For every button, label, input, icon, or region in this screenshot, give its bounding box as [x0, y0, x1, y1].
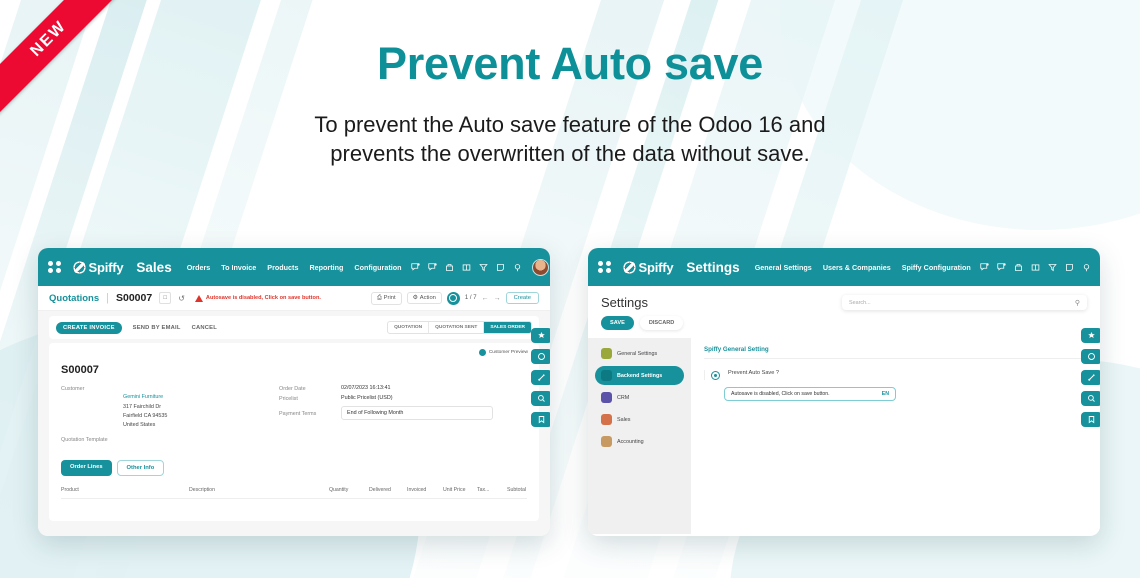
prevent-auto-save-checkbox[interactable]: [711, 371, 720, 380]
menu-item-to-invoice[interactable]: To Invoice: [221, 263, 256, 272]
print-label: Print: [384, 295, 396, 301]
spiffy-logo[interactable]: Spiffy: [623, 260, 674, 275]
help-icon[interactable]: [531, 349, 550, 364]
funnel-icon[interactable]: [1048, 263, 1057, 272]
address-line-2: Fairfield CA 94535: [123, 412, 167, 421]
backend-settings-icon: [601, 370, 612, 381]
stage-sales-order[interactable]: SALES ORDER: [484, 322, 531, 333]
settings-screenshot: Spiffy Settings General Settings Users &…: [588, 248, 1100, 536]
record-status-button[interactable]: [447, 292, 460, 305]
accounting-icon: [601, 436, 612, 447]
sidebar-item-general-settings[interactable]: General Settings: [595, 344, 684, 363]
pager-prev-icon[interactable]: ←: [482, 295, 489, 302]
spiffy-logo[interactable]: Spiffy: [73, 260, 124, 275]
search-placeholder: Search...: [849, 300, 871, 306]
app-name-label[interactable]: Sales: [136, 260, 171, 275]
poster-page: NEW Prevent Auto save To prevent the Aut…: [0, 0, 1140, 578]
quotation-template-label: Quotation Template: [61, 436, 108, 443]
chat-bubble-alt-icon[interactable]: [997, 263, 1006, 272]
breadcrumb-control-bar: Quotations | S00007 □ ↺ Autosave is disa…: [38, 286, 550, 311]
sidebar-item-label: CRM: [617, 395, 629, 401]
col-quantity: Quantity: [329, 487, 369, 493]
chat-bubble-icon[interactable]: [411, 263, 420, 272]
navbar-systray: [411, 259, 549, 276]
pin-icon[interactable]: [513, 263, 522, 272]
section-title: Spiffy General Setting: [704, 346, 1087, 359]
discard-button[interactable]: DISCARD: [640, 316, 683, 330]
menu-item-users-companies[interactable]: Users & Companies: [823, 263, 891, 272]
sidebar-item-label: Accounting: [617, 439, 644, 445]
autosave-warning-text: Autosave is disabled, Click on save butt…: [206, 295, 321, 301]
save-button[interactable]: SAVE: [601, 316, 634, 330]
stage-quotation-sent[interactable]: QUOTATION SENT: [429, 322, 484, 333]
print-button[interactable]: ⎙Print: [371, 292, 402, 305]
printer-icon: ⎙: [377, 295, 382, 302]
menu-item-spiffy-configuration[interactable]: Spiffy Configuration: [902, 263, 971, 272]
form-sheet: Customer Preview S00007 Customer Gemini …: [49, 343, 539, 521]
customer-address: 317 Fairchild Dr Fairfield CA 94535 Unit…: [123, 403, 167, 430]
sidebar-item-label: General Settings: [617, 351, 657, 357]
send-by-email-button[interactable]: SEND BY EMAIL: [133, 325, 181, 331]
apps-grid-icon[interactable]: [598, 261, 611, 274]
pricelist-value[interactable]: Public Pricelist (USD): [341, 395, 393, 402]
left-tool-rail: [531, 328, 550, 427]
search-input[interactable]: Search... ⚲: [842, 295, 1087, 310]
funnel-icon[interactable]: [479, 263, 488, 272]
customer-preview-label: Customer Preview: [489, 350, 528, 356]
sales-menu: Orders To Invoice Products Reporting Con…: [187, 263, 402, 272]
gear-icon: ⚙: [413, 295, 418, 301]
menu-item-orders[interactable]: Orders: [187, 263, 211, 272]
settings-sidebar: General Settings Backend Settings CRM Sa…: [588, 338, 691, 534]
notebook-tabs: Order Lines Other Info: [61, 460, 527, 476]
star-icon[interactable]: [531, 328, 550, 343]
payment-terms-input[interactable]: End of Following Month: [341, 406, 493, 420]
spiffy-logo-label: Spiffy: [639, 260, 674, 275]
pager-next-icon[interactable]: →: [494, 295, 501, 302]
settings-page-title: Settings: [601, 295, 648, 310]
page-subtitle: To prevent the Auto save feature of the …: [270, 110, 870, 168]
wand-icon[interactable]: [531, 370, 550, 385]
order-date-value[interactable]: 02/07/2023 16:13:41: [341, 385, 390, 392]
tab-other-info[interactable]: Other Info: [117, 460, 165, 476]
sidebar-item-label: Sales: [617, 417, 631, 423]
autosave-message-value: Autosave is disabled, Click on save butt…: [731, 391, 830, 397]
spiffy-logo-label: Spiffy: [89, 260, 124, 275]
address-line-1: 317 Fairchild Dr: [123, 403, 167, 412]
breadcrumb-current: S00007: [116, 292, 152, 304]
avatar[interactable]: [532, 259, 549, 276]
menu-item-configuration[interactable]: Configuration: [354, 263, 401, 272]
breadcrumb-root[interactable]: Quotations: [49, 293, 99, 304]
record-title: S00007: [61, 364, 527, 376]
col-product: Product: [61, 487, 189, 493]
chat-bubble-alt-icon[interactable]: [428, 263, 437, 272]
sidebar-item-sales[interactable]: Sales: [595, 410, 684, 429]
address-line-3: United States: [123, 421, 167, 430]
sales-navbar: Spiffy Sales Orders To Invoice Products …: [38, 248, 550, 286]
general-settings-icon: [601, 348, 612, 359]
right-tool-rail: [1081, 328, 1100, 427]
sidebar-item-label: Backend Settings: [617, 373, 662, 379]
search-icon[interactable]: [1081, 391, 1100, 406]
stage-pills: QUOTATION QUOTATION SENT SALES ORDER: [387, 321, 532, 334]
col-unit-price: Unit Price: [443, 487, 477, 493]
prevent-auto-save-option: Prevent Auto Save ?: [704, 370, 1087, 380]
cancel-button[interactable]: CANCEL: [192, 325, 217, 331]
sales-order-screenshot: Spiffy Sales Orders To Invoice Products …: [38, 248, 550, 536]
discard-record-icon[interactable]: ↺: [178, 294, 185, 303]
new-ribbon-label: NEW: [27, 17, 70, 60]
spiffy-logo-icon: [623, 261, 636, 274]
search-icon: ⚲: [1075, 299, 1080, 307]
settings-content: Spiffy General Setting Prevent Auto Save…: [691, 338, 1100, 534]
create-invoice-button[interactable]: CREATE INVOICE: [56, 322, 122, 334]
order-lines-table-header: Product Description Quantity Delivered I…: [61, 487, 527, 499]
action-label: Action: [420, 295, 436, 301]
grid-icon[interactable]: [1031, 263, 1040, 272]
sales-icon: [601, 414, 612, 425]
note-icon[interactable]: [1065, 263, 1074, 272]
control-actions: ⎙Print ⚙Action 1 / 7 ← → Create: [371, 292, 539, 305]
note-icon[interactable]: [496, 263, 505, 272]
customer-preview-button[interactable]: Customer Preview: [479, 349, 528, 356]
pager-label: 1 / 7: [465, 295, 477, 301]
chat-bubble-icon[interactable]: [980, 263, 989, 272]
autosave-warning: Autosave is disabled, Click on save butt…: [195, 295, 321, 302]
form-right-column: Order Date 02/07/2023 16:13:41 Pricelist…: [279, 385, 527, 446]
help-icon[interactable]: [1081, 349, 1100, 364]
settings-body: General Settings Backend Settings CRM Sa…: [588, 338, 1100, 534]
col-description: Description: [189, 487, 329, 493]
apps-grid-icon[interactable]: [48, 261, 61, 274]
language-badge[interactable]: EN: [882, 391, 889, 397]
navbar-systray: [980, 259, 1100, 276]
sidebar-item-backend-settings[interactable]: Backend Settings: [595, 366, 684, 385]
order-date-label: Order Date: [279, 385, 341, 392]
crm-icon: [601, 392, 612, 403]
form-statusbar: CREATE INVOICE SEND BY EMAIL CANCEL QUOT…: [49, 316, 539, 339]
customer-value[interactable]: Gemini Furniture: [123, 394, 163, 400]
bookmark-icon[interactable]: [531, 412, 550, 427]
bookmark-icon[interactable]: [1081, 412, 1100, 427]
circle-icon: [449, 294, 457, 302]
create-button[interactable]: Create: [506, 292, 539, 304]
menu-item-products[interactable]: Products: [267, 263, 298, 272]
stage-quotation[interactable]: QUOTATION: [388, 322, 429, 333]
action-button[interactable]: ⚙Action: [407, 292, 442, 304]
form-sheet-wrapper: CREATE INVOICE SEND BY EMAIL CANCEL QUOT…: [38, 311, 550, 536]
payment-terms-label: Payment Terms: [279, 410, 341, 417]
col-delivered: Delivered: [369, 487, 407, 493]
tab-order-lines[interactable]: Order Lines: [61, 460, 112, 476]
wand-icon[interactable]: [1081, 370, 1100, 385]
autosave-message-input[interactable]: Autosave is disabled, Click on save butt…: [724, 387, 896, 401]
app-name-label[interactable]: Settings: [686, 260, 739, 275]
activity-icon[interactable]: [445, 263, 454, 272]
sidebar-item-crm[interactable]: CRM: [595, 388, 684, 407]
pin-icon[interactable]: [1082, 263, 1091, 272]
page-title: Prevent Auto save: [0, 38, 1140, 90]
grid-icon[interactable]: [462, 263, 471, 272]
form-left-column: Customer Gemini Furniture 317 Fairchild …: [61, 385, 279, 446]
settings-navbar: Spiffy Settings General Settings Users &…: [588, 248, 1100, 286]
warning-triangle-icon: [195, 295, 203, 302]
settings-actions: SAVE DISCARD: [588, 310, 1100, 338]
prevent-auto-save-label: Prevent Auto Save ?: [728, 370, 779, 376]
star-icon[interactable]: [1081, 328, 1100, 343]
hero-section: Prevent Auto save To prevent the Auto sa…: [0, 38, 1140, 168]
globe-icon: [479, 349, 486, 356]
breadcrumb-separator: |: [106, 292, 109, 304]
settings-menu: General Settings Users & Companies Spiff…: [755, 263, 971, 272]
new-ribbon: NEW: [0, 0, 120, 120]
menu-item-reporting[interactable]: Reporting: [309, 263, 343, 272]
menu-item-general-settings[interactable]: General Settings: [755, 263, 812, 272]
sidebar-item-accounting[interactable]: Accounting: [595, 432, 684, 451]
col-subtotal: Subtotal: [507, 487, 526, 493]
activity-icon[interactable]: [1014, 263, 1023, 272]
spiffy-logo-icon: [73, 261, 86, 274]
col-invoiced: Invoiced: [407, 487, 443, 493]
pricelist-label: Pricelist: [279, 395, 341, 402]
save-record-icon[interactable]: □: [159, 292, 171, 304]
settings-header: Settings Search... ⚲: [588, 286, 1100, 310]
customer-label: Customer: [61, 385, 123, 430]
search-icon[interactable]: [531, 391, 550, 406]
col-tax: Tax...: [477, 487, 507, 493]
